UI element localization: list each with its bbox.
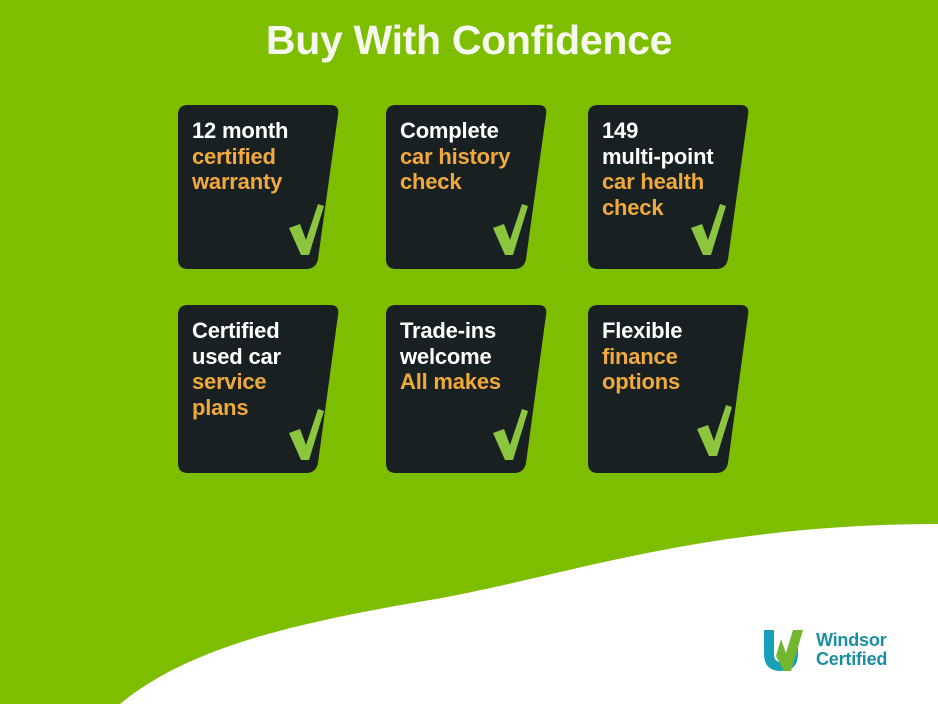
card-line: multi-point	[602, 144, 742, 170]
windsor-w-logo-icon	[762, 628, 808, 672]
card-line: Certified	[192, 318, 332, 344]
logo-line-certified: Certified	[816, 650, 887, 669]
card-line: Flexible	[602, 318, 742, 344]
logo-wordmark: Windsor Certified	[816, 631, 887, 670]
checkmark-icon	[694, 403, 734, 459]
benefit-card-complete-car-history-check[interactable]: Complete car history check	[386, 105, 554, 269]
card-text-block: Certified used car service plans	[192, 318, 332, 421]
card-line: finance	[602, 344, 742, 370]
card-line: used car	[192, 344, 332, 370]
logo-line-windsor: Windsor	[816, 631, 887, 650]
card-row-top: 12 month certified warranty Complete car…	[178, 105, 778, 305]
card-line: All makes	[400, 369, 540, 395]
card-line: warranty	[192, 169, 332, 195]
card-line: certified	[192, 144, 332, 170]
card-line: 149	[602, 118, 742, 144]
card-line: Complete	[400, 118, 540, 144]
card-text-block: Flexible finance options	[602, 318, 742, 395]
benefit-card-149-multi-point-car-health-check[interactable]: 149 multi-point car health check	[588, 105, 756, 269]
checkmark-icon	[286, 202, 326, 258]
poster-canvas: Buy With Confidence 12 month certified w…	[0, 0, 938, 704]
card-line: car health	[602, 169, 742, 195]
card-line: Trade-ins	[400, 318, 540, 344]
card-text-block: Trade-ins welcome All makes	[400, 318, 540, 395]
benefit-card-trade-ins-welcome-all-makes[interactable]: Trade-ins welcome All makes	[386, 305, 554, 473]
card-text-block: 12 month certified warranty	[192, 118, 332, 195]
card-line: options	[602, 369, 742, 395]
card-text-block: Complete car history check	[400, 118, 540, 195]
checkmark-icon	[688, 202, 728, 258]
benefit-card-flexible-finance-options[interactable]: Flexible finance options	[588, 305, 756, 473]
benefits-card-grid: 12 month certified warranty Complete car…	[178, 105, 778, 480]
windsor-certified-logo[interactable]: Windsor Certified	[762, 628, 887, 672]
checkmark-icon	[490, 202, 530, 258]
benefit-card-12-month-certified-warranty[interactable]: 12 month certified warranty	[178, 105, 346, 269]
checkmark-icon	[286, 407, 326, 463]
card-line: welcome	[400, 344, 540, 370]
card-row-bottom: Certified used car service plans Trade-i…	[178, 305, 778, 480]
card-line: car history	[400, 144, 540, 170]
page-title: Buy With Confidence	[0, 18, 938, 63]
card-line: service	[192, 369, 332, 395]
card-line: check	[400, 169, 540, 195]
card-line: 12 month	[192, 118, 332, 144]
benefit-card-certified-used-car-service-plans[interactable]: Certified used car service plans	[178, 305, 346, 473]
checkmark-icon	[490, 407, 530, 463]
